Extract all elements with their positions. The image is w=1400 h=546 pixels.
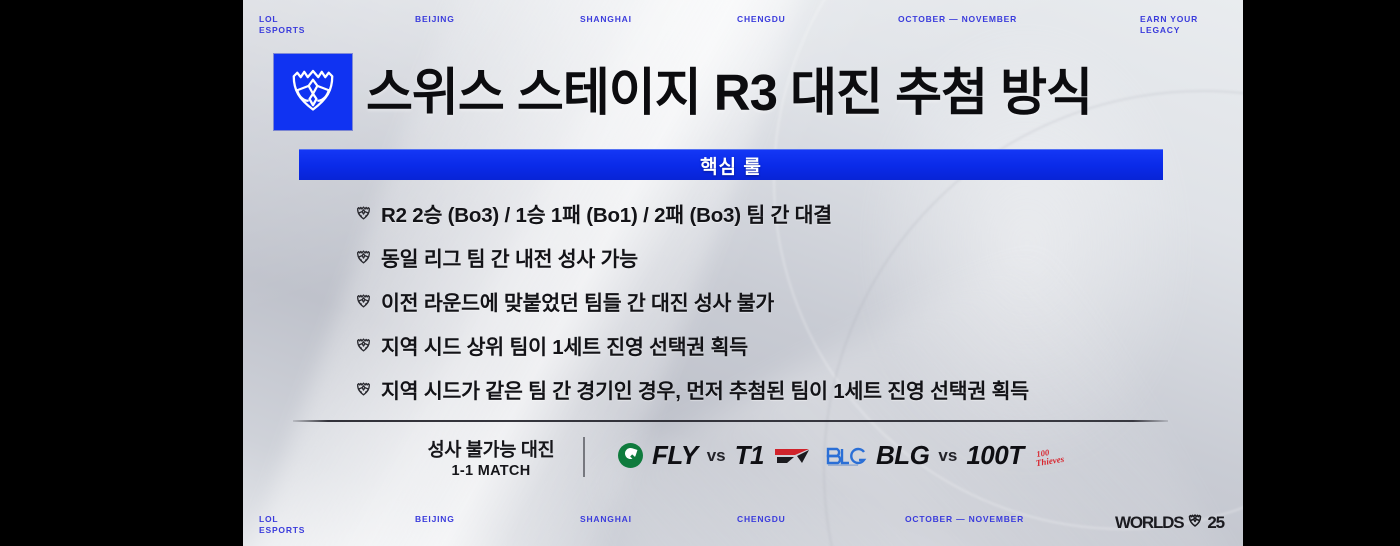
matchup-left-team: BLG <box>876 440 929 471</box>
ribbon-text: SHANGHAI <box>580 14 632 25</box>
matchup-left-team: FLY <box>652 440 698 471</box>
bilibili-gaming-logo-icon <box>825 445 867 467</box>
ribbon-text: LOL <box>259 14 305 25</box>
list-item-label: 지역 시드 상위 팀이 1세트 진영 선택권 획득 <box>381 330 748 360</box>
ribbon-top-item-shanghai: SHANGHAI <box>580 14 632 25</box>
worlds-25-footer-mark: WORLDS 25 <box>1115 512 1224 534</box>
divider <box>293 420 1168 422</box>
list-item: 지역 시드 상위 팀이 1세트 진영 선택권 획득 <box>355 323 1195 367</box>
ribbon-text: LEGACY <box>1140 25 1198 36</box>
list-item: 지역 시드가 같은 팀 간 경기인 경우, 먼저 추첨된 팀이 1세트 진영 선… <box>355 367 1195 411</box>
impossible-matchups-label-en: 1-1 MATCH <box>411 463 571 479</box>
matchup-vs-label: vs <box>938 446 957 466</box>
list-item-label: 지역 시드가 같은 팀 간 경기인 경우, 먼저 추첨된 팀이 1세트 진영 선… <box>381 374 1029 404</box>
list-item: R2 2승 (Bo3) / 1승 1패 (Bo1) / 2패 (Bo3) 팀 간… <box>355 191 1195 235</box>
worlds-crest-icon <box>274 54 352 130</box>
letterbox-right <box>1243 0 1400 546</box>
ribbon-text: SHANGHAI <box>580 514 632 525</box>
title-row: 스위스 스테이지 R3 대진 추첨 방식 <box>274 53 1092 131</box>
flyquest-logo-icon <box>618 443 643 468</box>
worlds-year: 25 <box>1207 513 1224 533</box>
worlds-crest-icon <box>1187 513 1203 534</box>
100-thieves-logo-icon: 100 Thieves <box>1033 445 1079 467</box>
ribbon-text: CHENGDU <box>737 514 786 525</box>
matchup-right-team: T1 <box>735 440 764 471</box>
ribbon-bottom: LOL ESPORTS BEIJING SHANGHAI CHENGDU OCT… <box>243 505 1243 545</box>
worlds-crest-bullet-icon <box>355 381 381 398</box>
ribbon-top-item-chengdu: CHENGDU <box>737 14 786 25</box>
page-title: 스위스 스테이지 R3 대진 추첨 방식 <box>366 67 1092 118</box>
broadcast-screenshot: LOL ESPORTS BEIJING SHANGHAI CHENGDU OCT… <box>0 0 1400 546</box>
ribbon-text: ESPORTS <box>259 525 305 536</box>
ribbon-text: OCTOBER — NOVEMBER <box>905 514 1024 525</box>
ribbon-text: ESPORTS <box>259 25 305 36</box>
ribbon-top: LOL ESPORTS BEIJING SHANGHAI CHENGDU OCT… <box>243 5 1243 45</box>
worlds-crest-bullet-icon <box>355 249 381 266</box>
matchup-blg-vs-100t: BLG vs 100T 100 Thieves <box>825 440 1079 471</box>
matchup-right-team: 100T <box>966 440 1023 471</box>
ribbon-text: LOL <box>259 514 305 525</box>
ribbon-text: EARN YOUR <box>1140 14 1198 25</box>
ribbon-top-item-beijing: BEIJING <box>415 14 455 25</box>
ribbon-bottom-item-chengdu: CHENGDU <box>737 514 786 525</box>
list-item: 이전 라운드에 맞붙었던 팀들 간 대진 성사 불가 <box>355 279 1195 323</box>
impossible-matchups-label-ko: 성사 불가능 대진 <box>411 436 571 462</box>
matchup-fly-vs-t1: FLY vs T1 <box>618 440 811 471</box>
ribbon-bottom-item-lol-esports: LOL ESPORTS <box>259 514 305 536</box>
list-item-label: 이전 라운드에 맞붙었던 팀들 간 대진 성사 불가 <box>381 286 774 316</box>
ribbon-bottom-item-dates: OCTOBER — NOVEMBER <box>905 514 1024 525</box>
slide-panel: LOL ESPORTS BEIJING SHANGHAI CHENGDU OCT… <box>243 0 1243 546</box>
ribbon-top-item-dates: OCTOBER — NOVEMBER <box>898 14 1017 25</box>
worlds-crest-bullet-icon <box>355 337 381 354</box>
vertical-divider <box>583 437 585 477</box>
letterbox-left <box>0 0 243 546</box>
section-banner-label: 핵심 룰 <box>700 152 762 179</box>
ribbon-text: BEIJING <box>415 14 455 25</box>
worlds-wordmark: WORLDS <box>1115 513 1183 533</box>
list-item: 동일 리그 팀 간 내전 성사 가능 <box>355 235 1195 279</box>
section-banner: 핵심 룰 <box>299 149 1163 180</box>
ribbon-text: CHENGDU <box>737 14 786 25</box>
ribbon-top-item-tagline: EARN YOUR LEGACY <box>1140 14 1198 36</box>
list-item-label: 동일 리그 팀 간 내전 성사 가능 <box>381 242 638 272</box>
worlds-crest-bullet-icon <box>355 293 381 310</box>
ribbon-bottom-item-shanghai: SHANGHAI <box>580 514 632 525</box>
ribbon-text: BEIJING <box>415 514 455 525</box>
ribbon-top-item-lol-esports: LOL ESPORTS <box>259 14 305 36</box>
impossible-matchups-label: 성사 불가능 대진 1-1 MATCH <box>411 436 571 479</box>
rules-list: R2 2승 (Bo3) / 1승 1패 (Bo1) / 2패 (Bo3) 팀 간… <box>355 191 1195 411</box>
matchup-vs-label: vs <box>707 446 726 466</box>
t1-logo-icon <box>773 446 811 466</box>
list-item-label: R2 2승 (Bo3) / 1승 1패 (Bo1) / 2패 (Bo3) 팀 간… <box>381 198 832 228</box>
ribbon-bottom-item-beijing: BEIJING <box>415 514 455 525</box>
ribbon-text: OCTOBER — NOVEMBER <box>898 14 1017 25</box>
worlds-crest-bullet-icon <box>355 205 381 222</box>
